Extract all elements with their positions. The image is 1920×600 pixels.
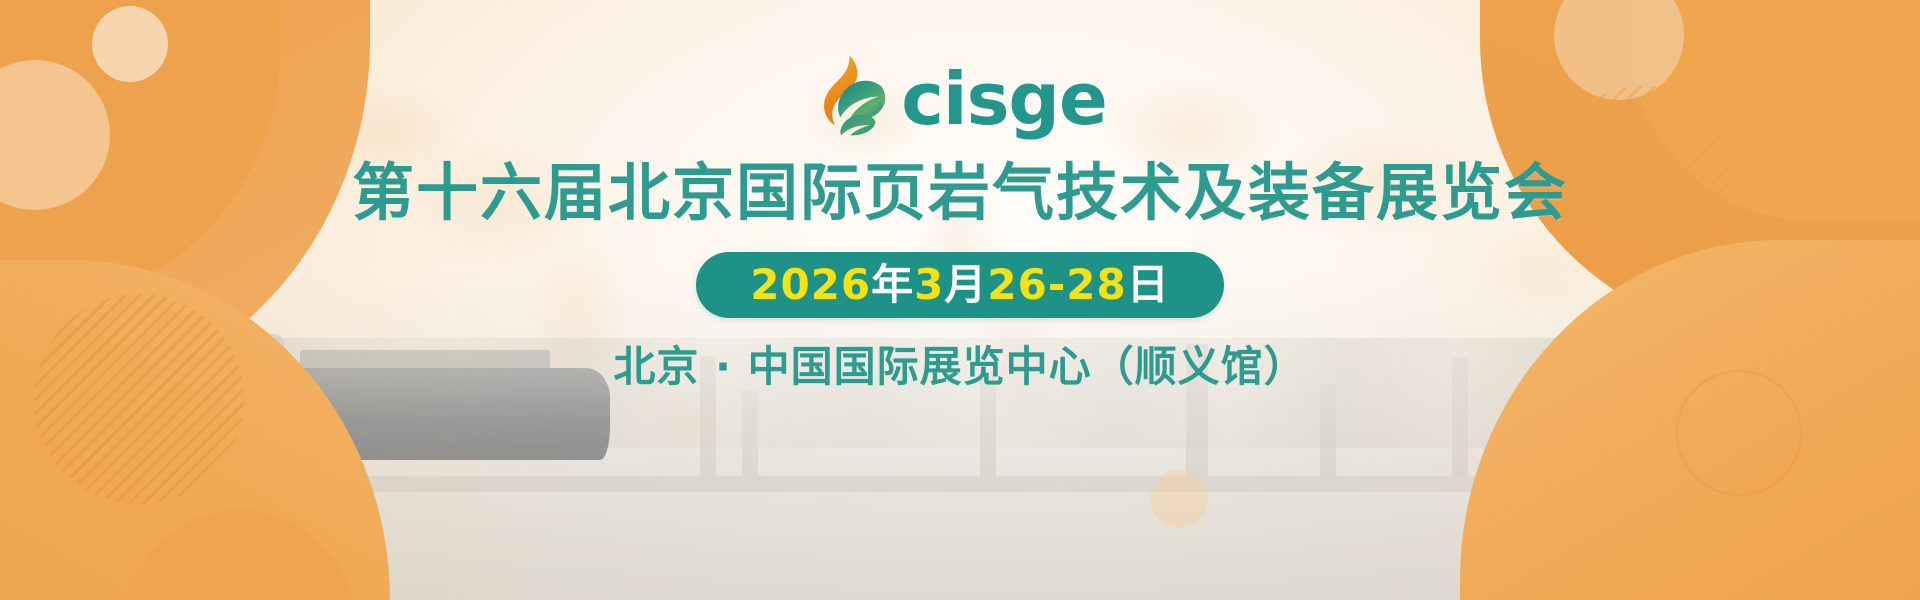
event-date-text: 2026年3月26-28日 — [750, 264, 1170, 306]
date-month: 3 — [914, 260, 944, 309]
banner-content: cisge 第十六届北京国际页岩气技术及装备展览会 2026年3月26-28日 … — [0, 0, 1920, 600]
date-day-label: 日 — [1127, 260, 1170, 309]
date-year-label: 年 — [871, 260, 914, 309]
date-month-label: 月 — [944, 260, 987, 309]
cisge-flame-leaf-logo — [813, 54, 891, 136]
date-day-range: 26-28 — [987, 260, 1126, 309]
brand-wordmark: cisge — [901, 63, 1107, 135]
date-year: 2026 — [750, 260, 871, 309]
event-date-badge: 2026年3月26-28日 — [696, 252, 1224, 318]
page-title: 第十六届北京国际页岩气技术及装备展览会 — [352, 162, 1568, 224]
venue-text: 北京 · 中国国际展览中心（顺义馆） — [613, 346, 1306, 388]
event-banner: cisge 第十六届北京国际页岩气技术及装备展览会 2026年3月26-28日 … — [0, 0, 1920, 600]
brand-logo[interactable]: cisge — [813, 52, 1107, 138]
